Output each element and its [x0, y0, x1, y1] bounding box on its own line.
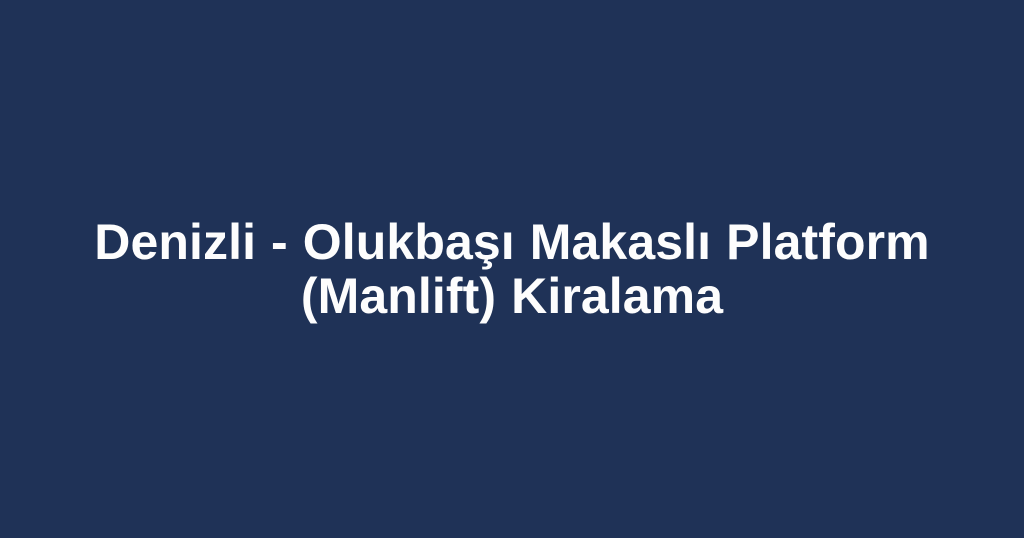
page-title-line-1: Denizli - Olukbaşı Makaslı Platform	[56, 215, 968, 269]
banner-card: Denizli - Olukbaşı Makaslı Platform(Manl…	[0, 0, 1024, 538]
page-title: Denizli - Olukbaşı Makaslı Platform(Manl…	[56, 215, 968, 323]
title-block: Denizli - Olukbaşı Makaslı Platform(Manl…	[0, 215, 1024, 323]
page-title-line-2: (Manlift) Kiralama	[56, 269, 968, 323]
